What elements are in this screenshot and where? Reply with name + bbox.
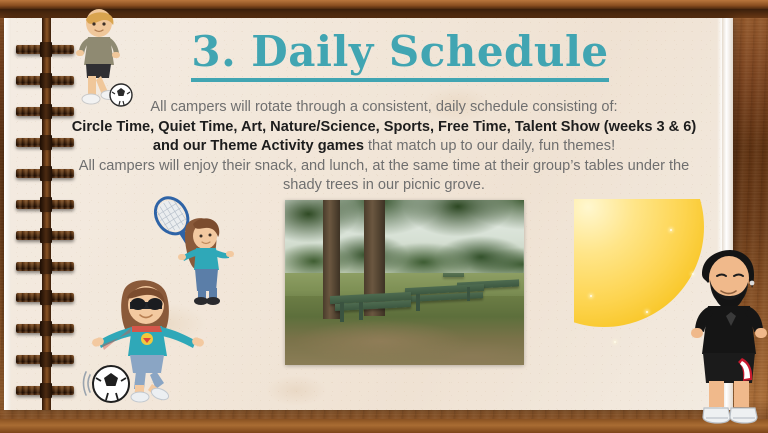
spiral-coil (14, 197, 76, 212)
photo-dirt-patch (285, 306, 524, 365)
spiral-coil (14, 321, 76, 336)
sparkle-icon (590, 295, 592, 297)
sparkle-icon (646, 311, 648, 313)
body-text-emphasis: and our Theme Activity games (153, 138, 364, 154)
photo-tree-canopy (285, 200, 524, 259)
body-text-line: All campers will enjoy their snack, and … (66, 157, 702, 177)
body-text-line: shady trees in our picnic grove. (66, 176, 702, 196)
body-text-run: All campers will rotate through a consis… (150, 99, 617, 115)
photo-picnic-table (443, 273, 465, 277)
body-text-line: and our Theme Activity games that match … (66, 137, 702, 157)
body-text-line: All campers will rotate through a consis… (66, 98, 702, 118)
spiral-coil (14, 352, 76, 367)
page-title-wrap: 3. Daily Schedule (90, 30, 710, 82)
sparkle-icon (670, 229, 672, 231)
spiral-coil (14, 290, 76, 305)
spiral-coil (14, 228, 76, 243)
photo-table-leg (416, 294, 420, 311)
spiral-coil (14, 383, 76, 398)
photo-table-leg (359, 302, 363, 320)
body-text-run: shady trees in our picnic grove. (283, 177, 485, 193)
slide-canvas: 3. Daily Schedule All campers will rotat… (0, 0, 768, 433)
photo-table-leg (467, 287, 471, 300)
spiral-coil (14, 259, 76, 274)
body-text-block: All campers will rotate through a consis… (66, 98, 702, 196)
body-text-run: that match up to our daily, fun themes! (364, 138, 615, 154)
boy-with-soccer-ball-figure (66, 8, 138, 108)
body-text-line: Circle Time, Quiet Time, Art, Nature/Sci… (66, 118, 702, 138)
sparkle-icon (614, 341, 616, 343)
body-text-run: All campers will enjoy their snack, and … (79, 158, 690, 174)
page-title: 3. Daily Schedule (191, 30, 608, 82)
wood-bottom-edge (0, 419, 768, 433)
girl-kicking-soccer-ball-figure (84, 272, 216, 404)
picnic-grove-photo (285, 200, 524, 365)
bearded-man-figure (690, 250, 768, 428)
photo-table-leg (340, 302, 344, 322)
page-left-strip (4, 18, 11, 410)
body-text-emphasis: Circle Time, Quiet Time, Art, Nature/Sci… (72, 119, 697, 135)
